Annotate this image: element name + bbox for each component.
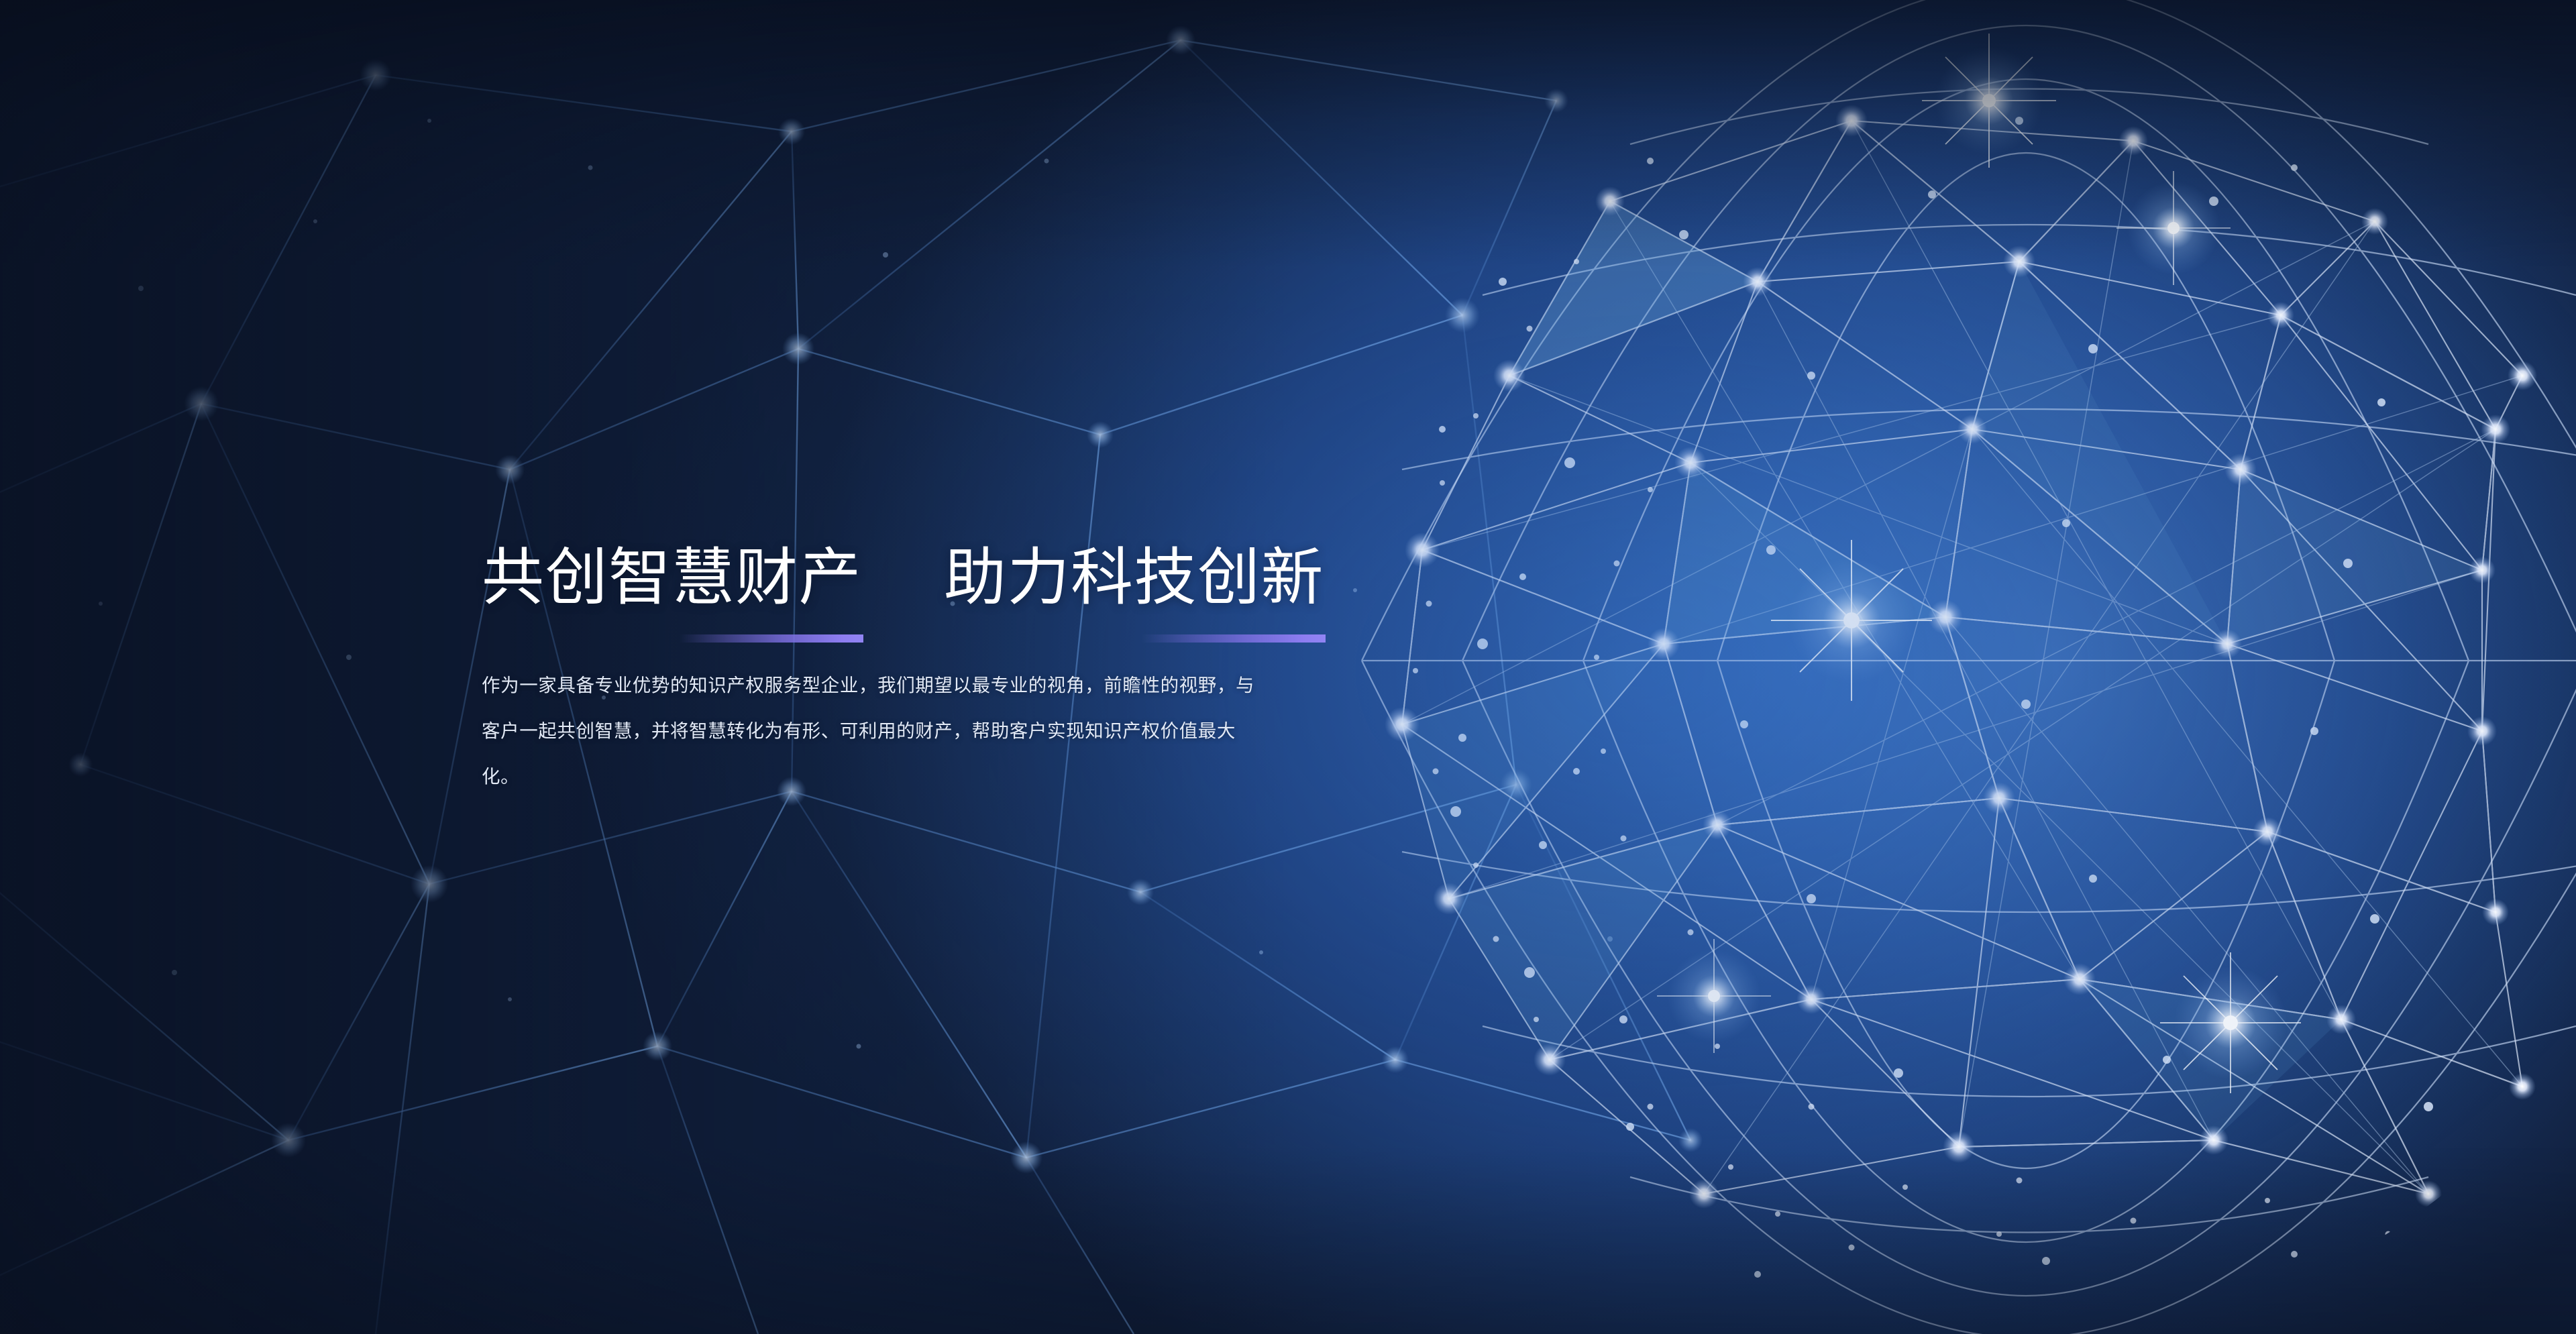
hero-content: 共创智慧财产 助力科技创新 作为一家具备专业优势的知识产权服务型企业，我们期望以… xyxy=(482,545,1434,799)
underline-accent-1 xyxy=(680,634,863,643)
headline-phrase-1: 共创智慧财产 xyxy=(482,545,862,612)
hero-banner: 共创智慧财产 助力科技创新 作为一家具备专业优势的知识产权服务型企业，我们期望以… xyxy=(0,0,2576,1334)
headline-phrase-2-text: 助力科技创新 xyxy=(944,543,1324,612)
underline-accent-2 xyxy=(1142,634,1326,643)
page-title: 共创智慧财产 助力科技创新 xyxy=(482,545,1434,612)
headline-phrase-2: 助力科技创新 xyxy=(944,545,1324,612)
headline-phrase-1-text: 共创智慧财产 xyxy=(482,543,862,612)
